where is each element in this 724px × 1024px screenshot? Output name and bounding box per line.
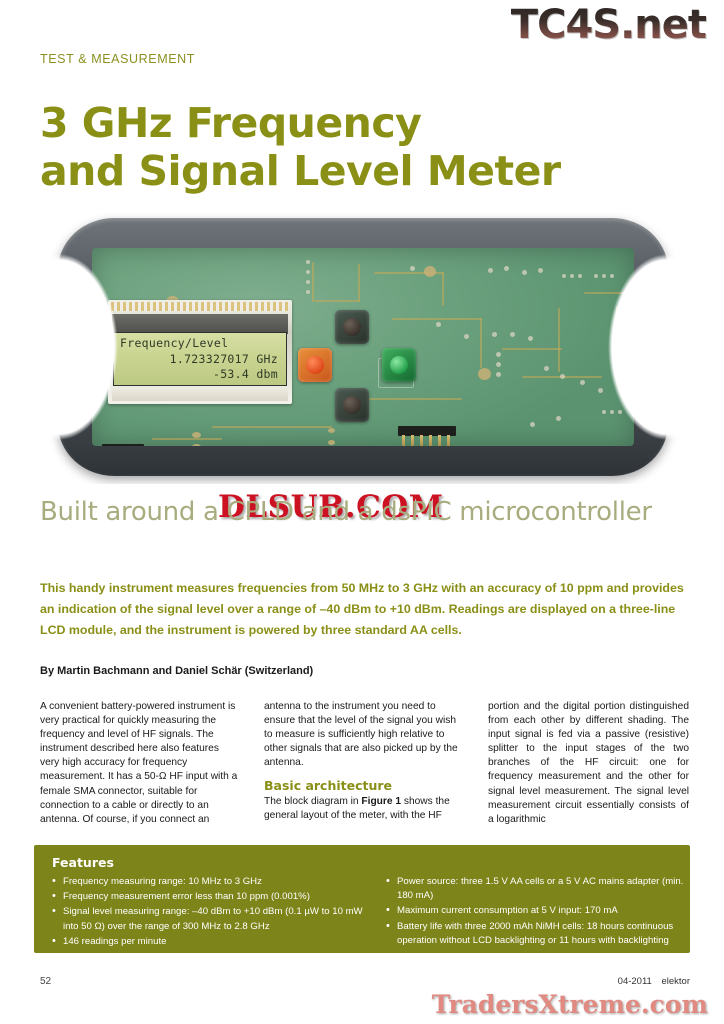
list-item: Frequency measurement error less than 10… [52, 890, 372, 904]
list-item: Battery life with three 2000 mAh NiMH ce… [386, 920, 686, 948]
lcd-module: Frequency/Level 1.723327017 GHz -53.4 db… [108, 300, 292, 404]
article-intro: This handy instrument measures frequenci… [40, 578, 690, 641]
body-paragraph-figure-ref: The block diagram in Figure 1 shows the … [264, 795, 465, 823]
list-item: Frequency measuring range: 10 MHz to 3 G… [52, 875, 372, 889]
lcd-pin-header [111, 302, 289, 311]
pcb-board: Frequency/Level 1.723327017 GHz -53.4 db… [92, 248, 634, 446]
page-title: 3 GHz Frequency and Signal Level Meter [40, 100, 680, 195]
body-paragraph: antenna to the instrument you need to en… [264, 700, 465, 770]
page-title-line2: and Signal Level Meter [40, 148, 680, 196]
features-column-left: Frequency measuring range: 10 MHz to 3 G… [52, 875, 372, 950]
byline: By Martin Bachmann and Daniel Schär (Swi… [40, 665, 313, 677]
sma-barrel-icon [628, 300, 634, 322]
body-column-2: antenna to the instrument you need to en… [264, 700, 465, 823]
body-paragraph: A convenient battery-powered instrument … [40, 700, 241, 827]
magazine-name: elektor [661, 976, 690, 987]
body-column-3: portion and the digital portion distingu… [488, 700, 689, 827]
button-cap-icon [390, 356, 408, 374]
lcd-bezel [112, 314, 288, 334]
button-cap-icon [343, 318, 361, 336]
features-list-left: Frequency measuring range: 10 MHz to 3 G… [52, 875, 372, 949]
body-column-1: A convenient battery-powered instrument … [40, 700, 241, 827]
body-subheading: Basic architecture [264, 779, 465, 793]
lcd-footer-strip [112, 389, 288, 401]
list-item: 146 readings per minute [52, 935, 372, 949]
bottom-tact-button[interactable] [335, 388, 369, 422]
lcd-line-1: Frequency/Level [120, 336, 280, 352]
list-item: Maximum current consumption at 5 V input… [386, 904, 686, 918]
button-cap-icon [306, 356, 324, 374]
orange-tact-button[interactable] [298, 348, 332, 382]
article-subtitle: Built around a CPLD and a dsPIC microcon… [40, 497, 700, 527]
list-item: Signal level measuring range: –40 dBm to… [52, 905, 372, 933]
page-number: 52 [40, 976, 51, 987]
lcd-line-2: 1.723327017 GHz [120, 352, 280, 368]
device-enclosure: Frequency/Level 1.723327017 GHz -53.4 db… [58, 218, 668, 476]
issue-date: 04-2011 [618, 976, 652, 987]
features-column-right: Power source: three 1.5 V AA cells or a … [386, 875, 686, 949]
section-kicker: TEST & MEASUREMENT [40, 52, 195, 66]
magazine-page: TC4S.net TEST & MEASUREMENT 3 GHz Freque… [0, 0, 724, 1024]
features-box: Features Frequency measuring range: 10 M… [34, 845, 690, 953]
traders-watermark: TradersXtreme.com [432, 990, 708, 1019]
list-item: Power source: three 1.5 V AA cells or a … [386, 875, 686, 903]
lcd-line-3: -53.4 dbm [120, 367, 280, 383]
programming-pin-header [398, 426, 456, 436]
issue-info: 04-2011 elektor [618, 976, 690, 987]
sma-female-connector[interactable] [616, 300, 634, 322]
top-tact-button[interactable] [335, 310, 369, 344]
figure-ref-bold: Figure 1 [361, 796, 401, 807]
figure-ref-pre: The block diagram in [264, 796, 361, 807]
features-list-right: Power source: three 1.5 V AA cells or a … [386, 875, 686, 948]
button-cap-icon [343, 396, 361, 414]
body-paragraph: portion and the digital portion distingu… [488, 700, 689, 827]
left-pin-header [102, 444, 144, 446]
green-tact-button[interactable] [382, 348, 416, 382]
site-logo-watermark: TC4S.net [511, 2, 706, 48]
features-title: Features [52, 855, 114, 870]
lcd-screen: Frequency/Level 1.723327017 GHz -53.4 db… [113, 332, 287, 386]
product-photo: Frequency/Level 1.723327017 GHz -53.4 db… [40, 212, 684, 484]
page-title-line1: 3 GHz Frequency [40, 99, 421, 147]
body-columns: A convenient battery-powered instrument … [40, 700, 690, 828]
